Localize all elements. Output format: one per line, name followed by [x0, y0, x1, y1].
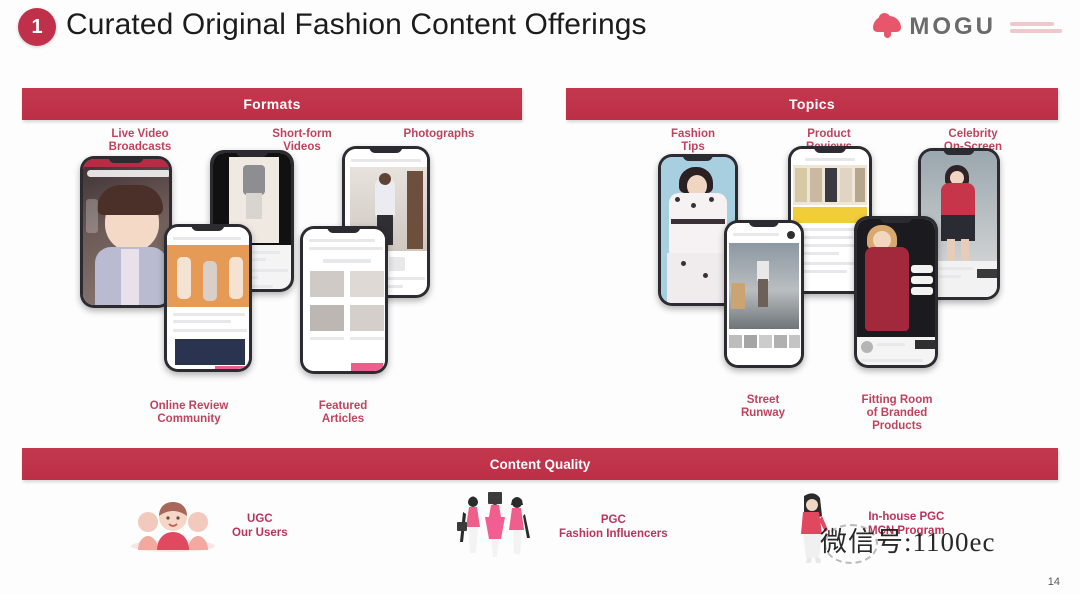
panel-formats-banner: Formats [22, 88, 522, 120]
phone-featured-articles [300, 226, 388, 374]
fashion-models-icon [455, 492, 535, 562]
quality-label-pgc: PGC Fashion Influencers [559, 513, 668, 541]
phone-fitting-room [854, 216, 938, 368]
family-group-icon [130, 500, 216, 552]
phone-online-review-community [164, 224, 252, 372]
panel-topics: Topics Fashion Tips Product Reviews Cele… [566, 88, 1058, 120]
phone-street-runway [724, 220, 804, 368]
content-quality-banner: Content Quality [22, 448, 1058, 480]
label-online-review-community: Online Review Community [114, 400, 264, 426]
mushroom-icon [873, 14, 901, 40]
section-number-badge: 1 [18, 8, 56, 46]
label-street-runway: Street Runway [698, 394, 828, 433]
slide-header: 1 Curated Original Fashion Content Offer… [0, 0, 1080, 58]
label-fitting-room: Fitting Room of Branded Products [832, 394, 962, 433]
quality-item-pgc: PGC Fashion Influencers [455, 492, 668, 562]
panel-formats: Formats Live Video Broadcasts Short-form… [22, 88, 522, 120]
panel-topics-banner: Topics [566, 88, 1058, 120]
slide: 1 Curated Original Fashion Content Offer… [0, 0, 1080, 594]
page-number: 14 [1048, 576, 1060, 588]
watermark-text: 微信号:1100ec [820, 520, 995, 559]
logo-wordmark: MOGU [909, 13, 996, 41]
quality-item-ugc: UGC Our Users [130, 500, 288, 552]
quality-label-ugc: UGC Our Users [232, 512, 288, 540]
logo-subtext-placeholder [1010, 22, 1062, 33]
label-featured-articles: Featured Articles [278, 400, 408, 426]
mogu-logo: MOGU [873, 10, 1062, 44]
phone-live-video [80, 156, 172, 308]
page-title: Curated Original Fashion Content Offerin… [66, 8, 647, 42]
